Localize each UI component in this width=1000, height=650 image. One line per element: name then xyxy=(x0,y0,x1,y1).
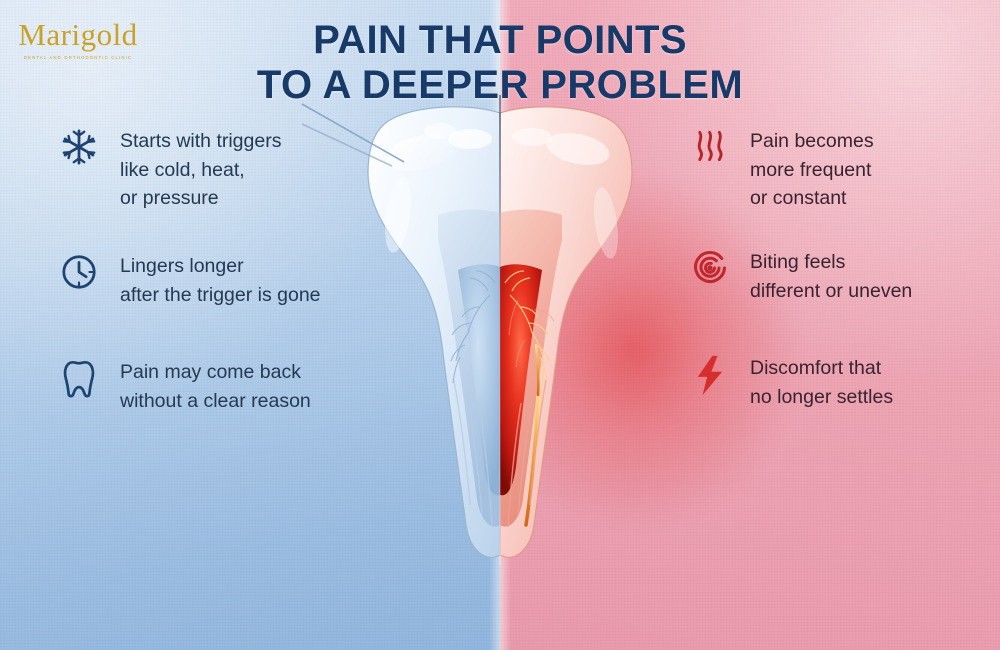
list-item-text: Starts with triggers like cold, heat, or… xyxy=(102,126,281,213)
tooth-icon xyxy=(56,357,102,411)
heat-waves-icon xyxy=(688,126,732,180)
list-item[interactable]: Biting feels different or uneven xyxy=(688,247,988,305)
list-item[interactable]: Starts with triggers like cold, heat, or… xyxy=(56,126,366,213)
tooth-left-half xyxy=(368,107,500,558)
list-item-line: Biting feels xyxy=(750,248,912,277)
list-item-line: Pain may come back xyxy=(120,358,311,387)
list-item-text: Pain becomes more frequent or constant xyxy=(732,126,874,213)
list-item-line: different or uneven xyxy=(750,277,912,306)
brand-tagline: DENTAL AND ORTHODONTIC CLINIC xyxy=(18,55,138,60)
list-item-line: or pressure xyxy=(120,184,281,213)
list-item-line: Pain becomes xyxy=(750,127,874,156)
page-title-line-1: PAIN THAT POINTS xyxy=(250,18,750,63)
list-item-line: Discomfort that xyxy=(750,354,893,383)
split-tooth-illustration xyxy=(320,95,680,565)
list-item-line: Lingers longer xyxy=(120,252,321,281)
clock-icon xyxy=(56,251,102,305)
list-item-text: Biting feels different or uneven xyxy=(732,247,912,305)
list-item-text: Discomfort that no longer settles xyxy=(732,353,893,411)
list-item[interactable]: Pain becomes more frequent or constant xyxy=(688,126,988,213)
list-item-line: or constant xyxy=(750,184,874,213)
tooth-right-half xyxy=(500,107,632,558)
right-symptom-list: Pain becomes more frequent or constant B… xyxy=(688,126,988,456)
list-item-line: no longer settles xyxy=(750,383,893,412)
target-icon xyxy=(688,247,732,301)
list-item-line: Starts with triggers xyxy=(120,127,281,156)
brand-logo: Marigold DENTAL AND ORTHODONTIC CLINIC xyxy=(18,19,138,60)
tooth-split-divider xyxy=(499,95,501,565)
list-item-line: like cold, heat, xyxy=(120,156,281,185)
lightning-bolt-icon xyxy=(688,353,732,407)
brand-name: Marigold xyxy=(18,19,138,50)
list-item[interactable]: Lingers longer after the trigger is gone xyxy=(56,251,366,309)
list-item[interactable]: Discomfort that no longer settles xyxy=(688,353,988,411)
list-item-line: after the trigger is gone xyxy=(120,281,321,310)
list-item-line: more frequent xyxy=(750,156,874,185)
snowflake-icon xyxy=(56,126,102,180)
infographic-canvas: Marigold DENTAL AND ORTHODONTIC CLINIC P… xyxy=(0,0,1000,650)
left-symptom-list: Starts with triggers like cold, heat, or… xyxy=(56,126,366,460)
list-item-text: Pain may come back without a clear reaso… xyxy=(102,357,311,415)
list-item-text: Lingers longer after the trigger is gone xyxy=(102,251,321,309)
list-item[interactable]: Pain may come back without a clear reaso… xyxy=(56,357,366,415)
list-item-line: without a clear reason xyxy=(120,387,311,416)
